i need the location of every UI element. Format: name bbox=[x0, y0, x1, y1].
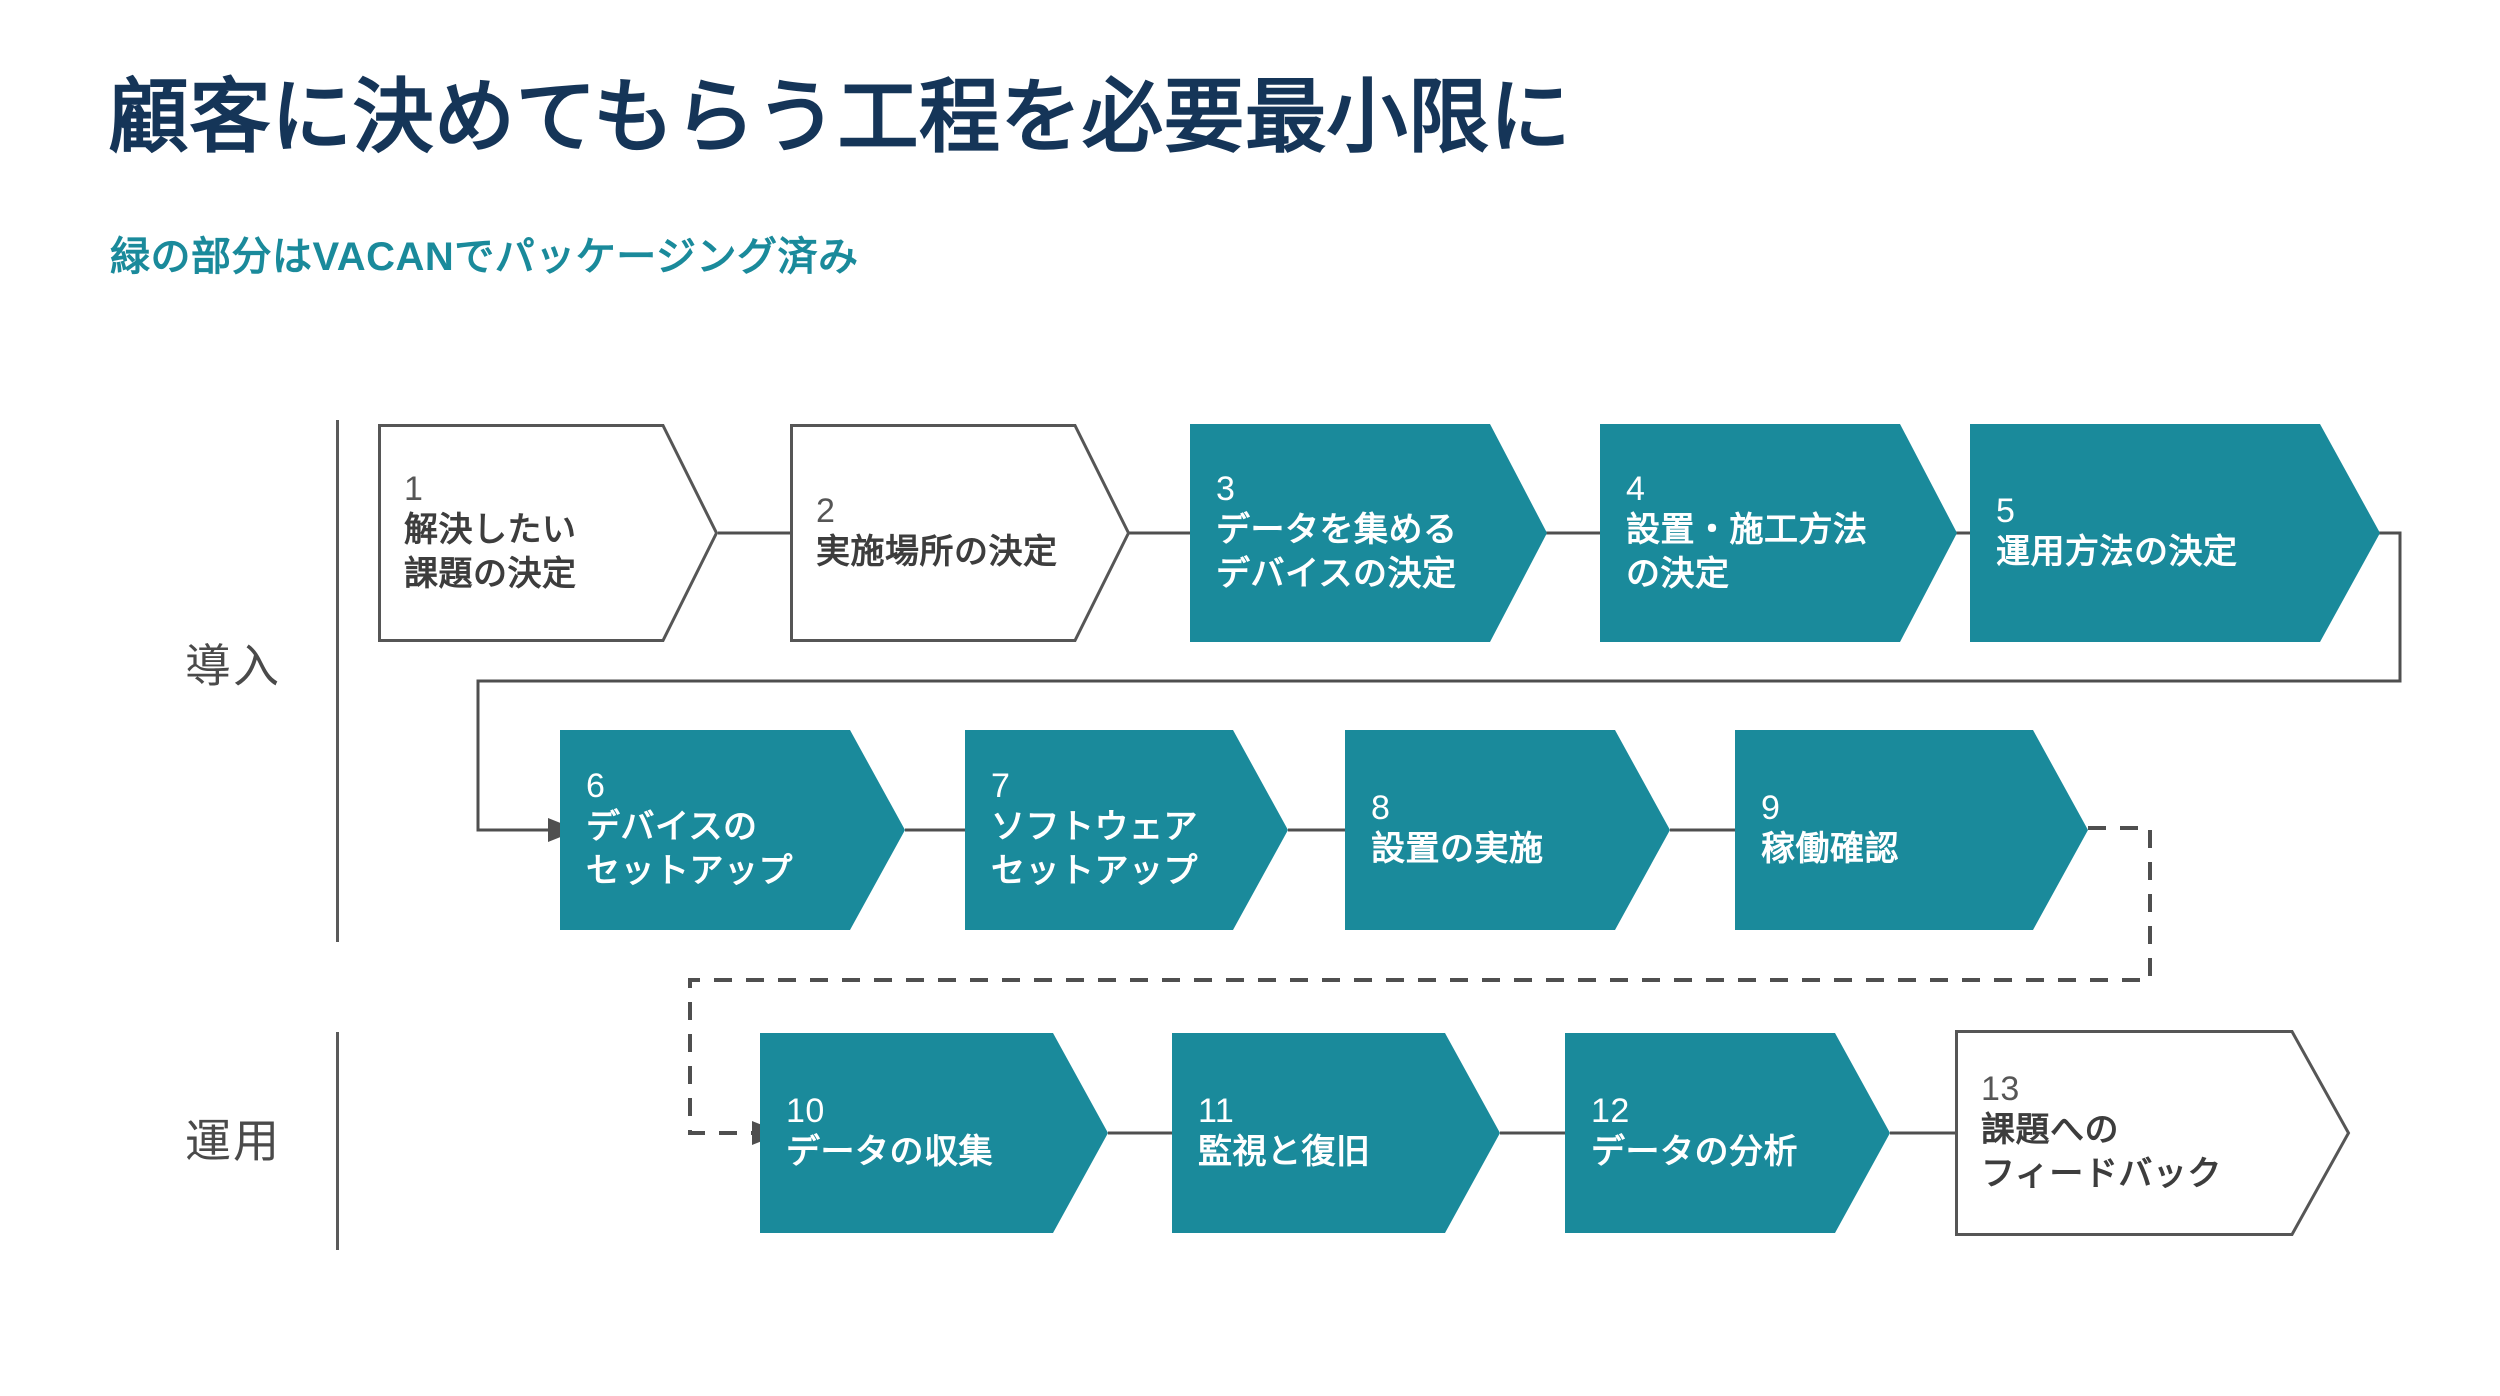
page-subtitle: 緑の部分はVACANでパッケージング済み bbox=[110, 237, 858, 277]
phase-label-operation: 運用 bbox=[185, 1105, 281, 1171]
process-step-1[interactable]: 1 解決したい 課題の決定 bbox=[378, 424, 718, 642]
process-step-12[interactable]: 12 データの分析 bbox=[1565, 1033, 1890, 1233]
phase-divider-operation bbox=[336, 1032, 339, 1250]
process-step-13[interactable]: 13 課題への フィードバック bbox=[1955, 1030, 2350, 1236]
process-step-4[interactable]: 4 設置・施工方法 の決定 bbox=[1600, 424, 1957, 642]
chevron-shape-filled bbox=[1565, 1033, 1890, 1233]
process-step-8[interactable]: 8 設置の実施 bbox=[1345, 730, 1670, 930]
slide-canvas: 顧客に決めてもらう工程を必要最小限に 緑の部分はVACANでパッケージング済み … bbox=[0, 0, 2500, 1396]
chevron-shape-filled bbox=[1735, 730, 2088, 930]
page-title: 顧客に決めてもらう工程を必要最小限に bbox=[108, 78, 1571, 159]
chevron-shape-outline bbox=[1955, 1030, 2350, 1236]
chevron-shape-filled bbox=[1345, 730, 1670, 930]
chevron-shape-filled bbox=[1970, 424, 2380, 642]
chevron-shape-filled bbox=[760, 1033, 1108, 1233]
chevron-shape-filled bbox=[1600, 424, 1957, 642]
phase-label-introduction: 導入 bbox=[185, 630, 281, 696]
chevron-shape-outline bbox=[378, 424, 718, 642]
chevron-shape-filled bbox=[965, 730, 1288, 930]
process-step-7[interactable]: 7 ソフトウェア セットアップ bbox=[965, 730, 1288, 930]
chevron-shape-filled bbox=[560, 730, 905, 930]
chevron-shape-filled bbox=[1172, 1033, 1500, 1233]
process-step-10[interactable]: 10 データの収集 bbox=[760, 1033, 1108, 1233]
phase-divider-introduction bbox=[336, 420, 339, 942]
chevron-shape-outline bbox=[790, 424, 1130, 642]
chevron-shape-filled bbox=[1190, 424, 1547, 642]
process-step-2[interactable]: 2 実施場所の決定 bbox=[790, 424, 1130, 642]
process-step-6[interactable]: 6 デバイスの セットアップ bbox=[560, 730, 905, 930]
process-step-9[interactable]: 9 稼働確認 bbox=[1735, 730, 2088, 930]
process-step-11[interactable]: 11 監視と復旧 bbox=[1172, 1033, 1500, 1233]
process-step-5[interactable]: 5 運用方法の決定 bbox=[1970, 424, 2380, 642]
process-step-3[interactable]: 3 データを集める デバイスの決定 bbox=[1190, 424, 1547, 642]
